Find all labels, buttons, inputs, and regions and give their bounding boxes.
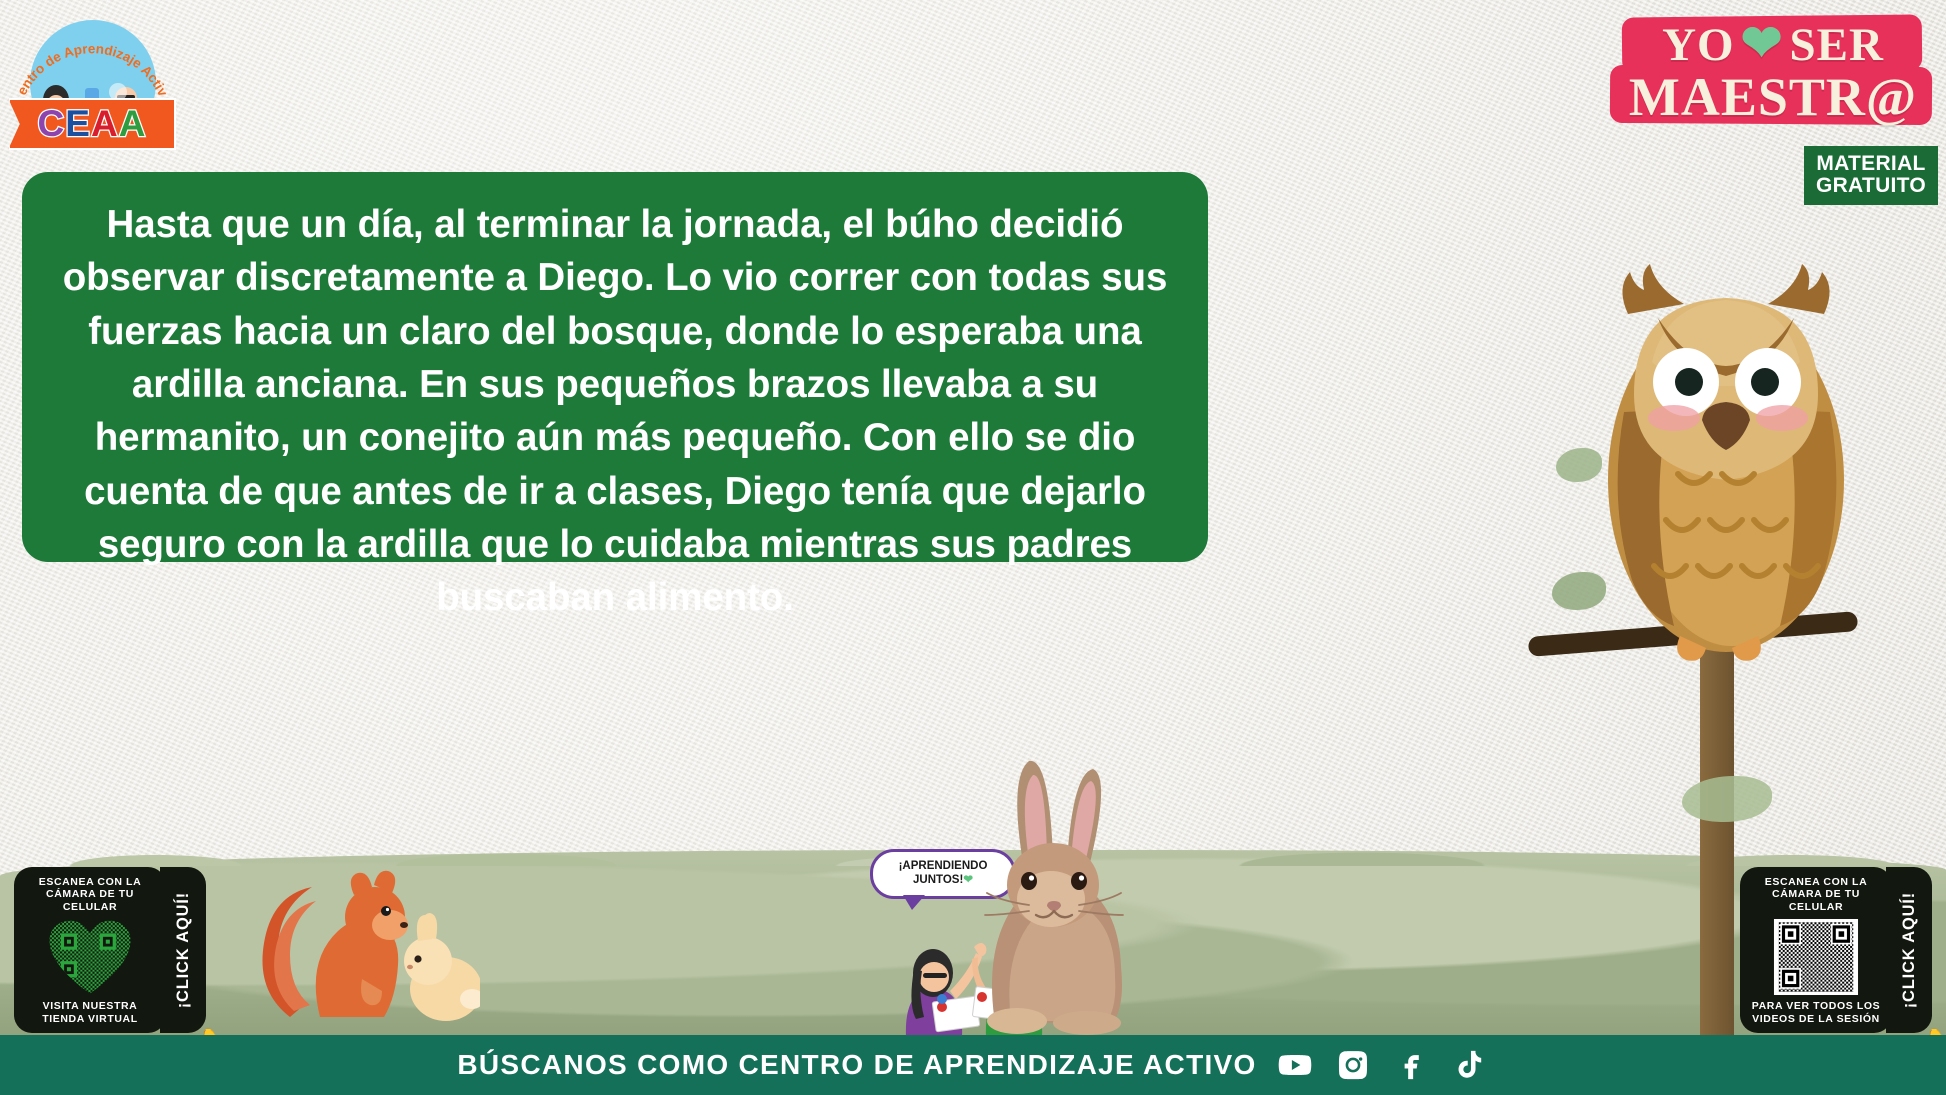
youtube-icon[interactable] [1275, 1045, 1315, 1085]
logo-letter-e: E [65, 103, 91, 145]
material-line-2: GRATUITO [1812, 175, 1930, 197]
instagram-icon[interactable] [1333, 1045, 1373, 1085]
owl-illustration [1562, 222, 1892, 782]
story-paragraph: Hasta que un día, al terminar la jornada… [50, 198, 1180, 625]
material-gratuito-badge: MATERIAL GRATUITO [1804, 146, 1938, 205]
leaf-cluster [1682, 776, 1772, 822]
qr-right-click-label: ¡CLICK AQUÍ! [1900, 892, 1919, 1008]
qr-left-caption-bottom: VISITA NUESTRA TIENDA VIRTUAL [24, 1000, 156, 1025]
material-line-1: MATERIAL [1812, 153, 1930, 175]
footer-text: BÚSCANOS COMO CENTRO DE APRENDIZAJE ACTI… [457, 1049, 1256, 1081]
qr-right-click-tab[interactable]: ¡CLICK AQUÍ! 👆 [1886, 867, 1932, 1033]
svg-text:Centro de Aprendizaje Activo: Centro de Aprendizaje Activo [8, 6, 171, 99]
badge-yo-text: YO [1662, 18, 1735, 72]
qr-right-caption-top: ESCANEA CON LA CÁMARA DE TU CELULAR [1750, 876, 1882, 913]
heart-icon: ❤ [1741, 18, 1784, 68]
badge-ser-text: SER [1789, 18, 1883, 72]
qr-right-caption-bottom: PARA VER TODOS LOS VIDEOS DE LA SESIÓN [1750, 1000, 1882, 1025]
badge-line-2: MAESTR@ [1608, 66, 1938, 128]
logo-banner: CEAA [8, 98, 176, 150]
qr-left-caption-top: ESCANEA CON LA CÁMARA DE TU CELULAR [24, 876, 156, 913]
big-rabbit-illustration [955, 755, 1170, 1035]
logo-arc-label: Centro de Aprendizaje Activo [8, 6, 171, 99]
qr-right-block[interactable]: ESCANEA CON LA CÁMARA DE TU CELULAR PARA… [1740, 867, 1932, 1033]
ceaa-logo[interactable]: Centro de Aprendizaje Activo CEAA [8, 6, 176, 156]
owl-body [1562, 222, 1892, 692]
logo-letter-a1: A [91, 103, 119, 145]
story-text-card: Hasta que un día, al terminar la jornada… [22, 172, 1208, 562]
logo-letter-c: C [38, 103, 66, 145]
squirrel-and-bunny [250, 829, 480, 1029]
qr-left-click-label: ¡CLICK AQUÍ! [174, 892, 193, 1008]
rabbit-body [955, 755, 1170, 1035]
tiktok-icon[interactable] [1449, 1045, 1489, 1085]
logo-letter-a2: A [119, 103, 147, 145]
squirrel-illustration [250, 829, 480, 1029]
footer-bar: BÚSCANOS COMO CENTRO DE APRENDIZAJE ACTI… [0, 1035, 1946, 1095]
qr-right-card[interactable]: ESCANEA CON LA CÁMARA DE TU CELULAR PARA… [1740, 867, 1892, 1033]
qr-left-click-tab[interactable]: ¡CLICK AQUÍ! 👆 [160, 867, 206, 1033]
badge-line-1: YO ❤ SER [1608, 18, 1938, 72]
facebook-icon[interactable] [1391, 1045, 1431, 1085]
qr-left-card[interactable]: ESCANEA CON LA CÁMARA DE TU CELULAR [14, 867, 166, 1033]
qr-right-square-code[interactable] [1763, 919, 1869, 995]
poster-canvas: Centro de Aprendizaje Activo CEAA YO ❤ S… [0, 0, 1946, 1095]
qr-left-heart-code[interactable] [38, 919, 142, 995]
yo-ser-maestro-badge: YO ❤ SER MAESTR@ [1608, 10, 1938, 132]
qr-left-block[interactable]: ESCANEA CON LA CÁMARA DE TU CELULAR [14, 867, 206, 1033]
